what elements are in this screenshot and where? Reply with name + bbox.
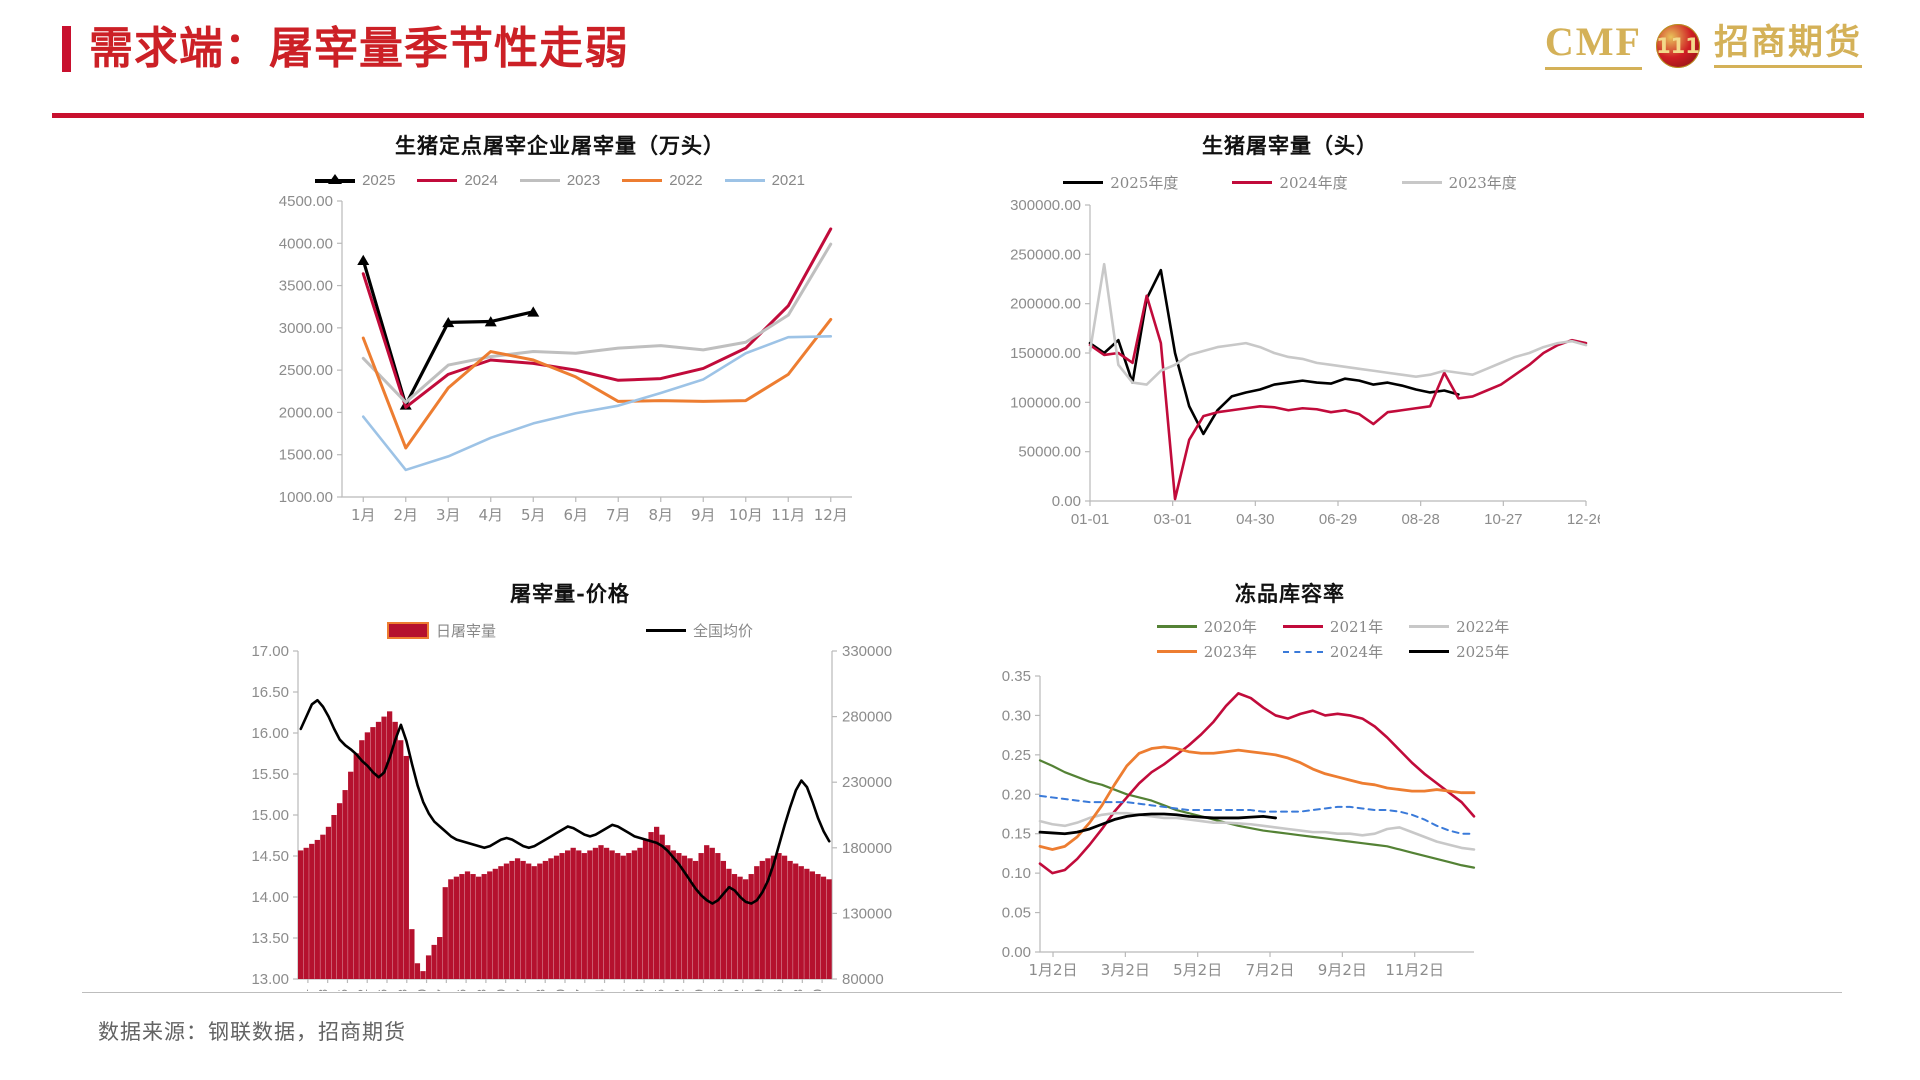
x-tick-label: 2025/3/13 (474, 989, 489, 991)
bar (304, 848, 309, 979)
y-right-tick-label: 180000 (842, 840, 892, 857)
bar (370, 727, 375, 979)
legend-label: 2025年 (1456, 641, 1509, 662)
y-tick-label: 100000.00 (1010, 394, 1081, 411)
bar (726, 869, 731, 979)
bar (426, 955, 431, 979)
bar (699, 853, 704, 979)
legend-label: 2024 (464, 172, 497, 189)
bar (598, 845, 603, 979)
bar (559, 853, 564, 979)
bar (543, 861, 548, 979)
bar (309, 844, 314, 979)
legend-swatch (1409, 625, 1449, 629)
bar (593, 848, 598, 979)
bar (799, 866, 804, 979)
bar (721, 861, 726, 979)
data-series-line (363, 229, 831, 407)
bar (704, 845, 709, 979)
x-tick-label: 3月2日 (1101, 961, 1150, 979)
bar (571, 848, 576, 979)
legend-label: 2023年 (1204, 641, 1257, 662)
bar (348, 772, 353, 979)
legend-swatch (1283, 651, 1323, 653)
legend-item-2023年: 2023年 (1157, 641, 1257, 662)
legend-item-2021: 2021 (725, 172, 805, 189)
x-tick-label: 2025/5/22 (672, 989, 687, 991)
bar (604, 848, 609, 979)
bar (515, 858, 520, 979)
bar (715, 853, 720, 979)
bar (331, 815, 336, 979)
legend-item-2023: 2023 (520, 172, 600, 189)
legend-label: 2024年 (1330, 641, 1383, 662)
x-tick-label: 10月 (729, 506, 763, 524)
bar (821, 877, 826, 979)
legend-swatch (1409, 650, 1449, 654)
legend-swatch (1283, 625, 1323, 629)
chart-legend: 日屠宰量全国均价 (230, 620, 910, 641)
y-tick-label: 200000.00 (1010, 296, 1081, 313)
chart-title: 屠宰量-价格 (230, 578, 910, 608)
x-tick-label: 3月 (436, 506, 461, 524)
bar (482, 874, 487, 979)
x-tick-label: 2025/7/10 (810, 989, 825, 991)
x-tick-label: 01-01 (1071, 511, 1109, 528)
chart-frozen-storage-capacity-rate: 冻品库容率 2020年2021年2022年2023年2024年2025年 0.0… (980, 578, 1600, 998)
bar (398, 740, 403, 979)
legend-label: 日屠宰量 (436, 620, 496, 641)
x-tick-label: 2025/5/29 (691, 989, 706, 991)
bar (771, 856, 776, 979)
logo-company-name: 招商期货 (1714, 25, 1862, 68)
bar (693, 861, 698, 979)
bar (754, 866, 759, 979)
x-tick-label: 03-01 (1153, 511, 1191, 528)
legend-item-2023年度: 2023年度 (1402, 172, 1517, 193)
slide-header: 需求端：屠宰量季节性走弱 CMF 111 招商期货 (0, 0, 1920, 120)
bar (582, 853, 587, 979)
chart-legend: 2025年度2024年度2023年度 (980, 172, 1600, 193)
bar (804, 869, 809, 979)
data-source-note: 数据来源：钢联数据，招商期货 (98, 1016, 406, 1046)
legend-item-全国均价: 全国均价 (646, 620, 753, 641)
legend-label: 2020年 (1204, 616, 1257, 637)
legend-swatch (725, 179, 765, 183)
title-accent-bar (62, 26, 71, 72)
title-group: 需求端：屠宰量季节性走弱 (62, 26, 629, 72)
bar (381, 717, 386, 979)
x-tick-label: 2025/2/27 (434, 989, 449, 991)
legend-label: 2025 (362, 172, 395, 189)
bar (749, 874, 754, 979)
data-series-line (363, 319, 831, 448)
legend-item-2024: 2024 (417, 172, 497, 189)
bar (788, 861, 793, 979)
y-tick-label: 4500.00 (279, 193, 333, 210)
x-tick-label: 12-26 (1567, 511, 1600, 528)
chart-legend: 20252024202320222021 (250, 172, 870, 189)
chart-plot: 0.000.050.100.150.200.250.300.351月2日3月2日… (980, 662, 1600, 992)
y-left-tick-label: 16.50 (251, 684, 289, 701)
y-left-tick-label: 13.00 (251, 971, 289, 988)
bar (337, 803, 342, 979)
legend-swatch (520, 179, 560, 183)
x-tick-label: 8月 (648, 506, 673, 524)
bar (320, 835, 325, 979)
y-tick-label: 50000.00 (1018, 444, 1081, 461)
x-tick-label: 2025/1/1 (296, 989, 311, 991)
x-tick-label: 1月2日 (1028, 961, 1077, 979)
slide: 需求端：屠宰量季节性走弱 CMF 111 招商期货 生猪定点屠宰企业屠宰量（万头… (0, 0, 1920, 1080)
header-divider (52, 113, 1864, 118)
bar (465, 871, 470, 979)
logo-emblem-icon: 111 (1656, 24, 1700, 68)
legend-item-2020年: 2020年 (1157, 616, 1257, 637)
bar (432, 945, 437, 979)
bar (409, 929, 414, 979)
y-tick-label: 4000.00 (279, 235, 333, 252)
y-tick-label: 2500.00 (279, 362, 333, 379)
y-tick-label: 1000.00 (279, 489, 333, 506)
legend-swatch (622, 179, 662, 183)
x-tick-label: 2025/6/12 (731, 989, 746, 991)
chart-title: 生猪屠宰量（头） (980, 130, 1600, 160)
legend-swatch (1157, 650, 1197, 654)
y-tick-label: 0.20 (1002, 786, 1031, 803)
footer-divider (82, 992, 1842, 993)
bar (343, 790, 348, 979)
chart-plot: 13.0013.5014.0014.5015.0015.5016.0016.50… (230, 641, 910, 991)
x-tick-label: 9月2日 (1318, 961, 1367, 979)
bar (660, 835, 665, 979)
x-tick-label: 2025/5/15 (652, 989, 667, 991)
legend-label: 2022 (669, 172, 702, 189)
bar (298, 850, 303, 979)
chart-title: 冻品库容率 (980, 578, 1600, 608)
legend-item-日屠宰量: 日屠宰量 (387, 620, 496, 641)
x-tick-label: 2025/7/3 (790, 989, 805, 991)
legend-swatch (1063, 181, 1103, 185)
legend-swatch (1157, 625, 1197, 629)
x-tick-label: 11月 (771, 506, 805, 524)
legend-swatch (1402, 181, 1442, 185)
bar (737, 877, 742, 979)
bar (671, 850, 676, 979)
bar (393, 722, 398, 979)
x-tick-label: 6月 (563, 506, 588, 524)
bar (637, 848, 642, 979)
legend-item-2025年: 2025年 (1409, 641, 1509, 662)
bar (443, 887, 448, 979)
x-tick-label: 1月 (351, 506, 376, 524)
y-right-tick-label: 280000 (842, 709, 892, 726)
legend-swatch (1232, 181, 1272, 185)
x-tick-label: 2025/5/8 (632, 989, 647, 991)
x-tick-label: 2025/5/1 (612, 989, 627, 991)
bar (743, 879, 748, 979)
data-series-line (1040, 813, 1474, 849)
bar (504, 864, 509, 979)
bar (554, 856, 559, 979)
bar (415, 963, 420, 979)
legend-label: 2022年 (1456, 616, 1509, 637)
bar (326, 827, 331, 979)
legend-item-2025年度: 2025年度 (1063, 172, 1178, 193)
bar (548, 858, 553, 979)
bar (404, 756, 409, 979)
bar (487, 871, 492, 979)
bar (676, 853, 681, 979)
bar (654, 827, 659, 979)
legend-swatch (387, 622, 429, 639)
x-tick-label: 7月2日 (1245, 961, 1294, 979)
legend-marker-icon (328, 174, 342, 184)
data-series-line (1040, 693, 1474, 873)
x-tick-label: 2月 (393, 506, 418, 524)
x-tick-label: 2025/4/17 (573, 989, 588, 991)
bar (782, 856, 787, 979)
x-tick-label: 04-30 (1236, 511, 1274, 528)
bar (354, 753, 359, 979)
chart-legend: 2020年2021年2022年2023年2024年2025年 (1098, 616, 1568, 662)
y-tick-label: 0.05 (1002, 905, 1031, 922)
bar (454, 877, 459, 979)
y-tick-label: 0.00 (1002, 944, 1031, 961)
bar (448, 879, 453, 979)
y-left-tick-label: 14.00 (251, 889, 289, 906)
x-tick-label: 2025/3/6 (454, 989, 469, 991)
bar (521, 861, 526, 979)
bar (476, 877, 481, 979)
legend-label: 2021年 (1330, 616, 1383, 637)
bar (626, 853, 631, 979)
bar (815, 874, 820, 979)
y-right-tick-label: 80000 (842, 971, 884, 988)
data-series-line (1040, 747, 1474, 850)
y-tick-label: 0.35 (1002, 668, 1031, 685)
x-tick-label: 2025/1/15 (335, 989, 350, 991)
bar (610, 850, 615, 979)
y-right-tick-label: 230000 (842, 774, 892, 791)
legend-label: 2021 (772, 172, 805, 189)
x-tick-label: 2025/4/3 (533, 989, 548, 991)
x-tick-label: 2025/3/20 (494, 989, 509, 991)
logo-cmf-text: CMF (1545, 22, 1642, 70)
x-tick-label: 5月 (521, 506, 546, 524)
bar (793, 864, 798, 979)
x-tick-label: 2025/6/19 (751, 989, 766, 991)
x-tick-label: 10-27 (1484, 511, 1522, 528)
legend-label: 2024年度 (1279, 172, 1347, 193)
bar (632, 850, 637, 979)
x-tick-label: 08-28 (1401, 511, 1439, 528)
y-left-tick-label: 13.50 (251, 930, 289, 947)
bar (576, 850, 581, 979)
bar (615, 853, 620, 979)
chart-title: 生猪定点屠宰企业屠宰量（万头） (250, 130, 870, 160)
y-tick-label: 0.15 (1002, 826, 1031, 843)
y-tick-label: 1500.00 (279, 447, 333, 464)
y-left-tick-label: 16.00 (251, 725, 289, 742)
bar (509, 861, 514, 979)
bar (587, 850, 592, 979)
legend-swatch (646, 629, 686, 633)
x-tick-label: 2025/1/22 (355, 989, 370, 991)
legend-label: 全国均价 (693, 620, 753, 641)
y-tick-label: 150000.00 (1010, 345, 1081, 362)
y-tick-label: 3500.00 (279, 278, 333, 295)
y-tick-label: 250000.00 (1010, 246, 1081, 263)
bar (648, 832, 653, 979)
bar (526, 864, 531, 979)
bar (776, 853, 781, 979)
bar (710, 848, 715, 979)
x-tick-label: 12月 (814, 506, 848, 524)
x-tick-label: 9月 (691, 506, 716, 524)
x-tick-label: 2025/6/26 (771, 989, 786, 991)
y-left-tick-label: 15.50 (251, 766, 289, 783)
x-tick-label: 2025/1/8 (316, 989, 331, 991)
bar (643, 840, 648, 979)
x-tick-label: 2025/2/13 (395, 989, 410, 991)
x-tick-label: 2025/4/24 (593, 989, 608, 991)
bar (565, 850, 570, 979)
legend-label: 2023年度 (1449, 172, 1517, 193)
bar (470, 874, 475, 979)
legend-item-2021年: 2021年 (1283, 616, 1383, 637)
bar (359, 740, 364, 979)
bar (532, 866, 537, 979)
x-tick-label: 2025/3/27 (513, 989, 528, 991)
data-series-line (1090, 264, 1586, 384)
page-title: 需求端：屠宰量季节性走弱 (89, 27, 629, 71)
brand-logo: CMF 111 招商期货 (1545, 22, 1862, 70)
x-tick-label: 2025/2/20 (415, 989, 430, 991)
legend-item-2022年: 2022年 (1409, 616, 1509, 637)
x-tick-label: 4月 (478, 506, 503, 524)
y-right-tick-label: 330000 (842, 643, 892, 660)
legend-item-2024年: 2024年 (1283, 641, 1383, 662)
bar (493, 869, 498, 979)
legend-swatch (417, 179, 457, 183)
legend-item-2022: 2022 (622, 172, 702, 189)
x-tick-label: 2025/4/10 (553, 989, 568, 991)
legend-label: 2025年度 (1110, 172, 1178, 193)
y-right-tick-label: 130000 (842, 905, 892, 922)
legend-item-2025: 2025 (315, 172, 395, 189)
chart-daily-slaughter-head: 生猪屠宰量（头） 2025年度2024年度2023年度 0.0050000.00… (980, 130, 1600, 560)
legend-item-2024年度: 2024年度 (1232, 172, 1347, 193)
y-tick-label: 0.10 (1002, 865, 1031, 882)
x-tick-label: 2025/6/5 (711, 989, 726, 991)
x-tick-label: 06-29 (1319, 511, 1357, 528)
chart-slaughter-volume-seasonal: 生猪定点屠宰企业屠宰量（万头） 20252024202320222021 100… (250, 130, 870, 560)
x-tick-label: 11月2日 (1385, 961, 1444, 979)
y-tick-label: 2000.00 (279, 404, 333, 421)
y-left-tick-label: 15.00 (251, 807, 289, 824)
y-left-tick-label: 17.00 (251, 643, 289, 660)
bar (665, 845, 670, 979)
data-series-line (363, 244, 831, 402)
bar (810, 871, 815, 979)
bar (437, 937, 442, 979)
bar (498, 866, 503, 979)
chart-plot: 1000.001500.002000.002500.003000.003500.… (250, 189, 870, 539)
data-series-line (363, 336, 831, 470)
data-series-line (1090, 296, 1586, 499)
bar (459, 874, 464, 979)
x-tick-label: 5月2日 (1173, 961, 1222, 979)
legend-label: 2023 (567, 172, 600, 189)
y-left-tick-label: 14.50 (251, 848, 289, 865)
y-tick-label: 0.00 (1052, 493, 1081, 510)
y-tick-label: 300000.00 (1010, 197, 1081, 214)
x-tick-label: 2025/2/6 (375, 989, 390, 991)
chart-slaughter-volume-price: 屠宰量-价格 日屠宰量全国均价 13.0013.5014.0014.5015.0… (230, 578, 910, 998)
bar (376, 722, 381, 979)
chart-plot: 0.0050000.00100000.00150000.00200000.002… (980, 193, 1600, 543)
bar (537, 864, 542, 979)
bar (621, 856, 626, 979)
y-tick-label: 0.30 (1002, 707, 1031, 724)
legend-swatch (315, 179, 355, 183)
bar (315, 840, 320, 979)
bar (760, 861, 765, 979)
x-tick-label: 7月 (606, 506, 631, 524)
y-tick-label: 0.25 (1002, 747, 1031, 764)
data-point-marker (357, 255, 369, 265)
bar (420, 971, 425, 979)
bar (826, 879, 831, 979)
y-tick-label: 3000.00 (279, 320, 333, 337)
